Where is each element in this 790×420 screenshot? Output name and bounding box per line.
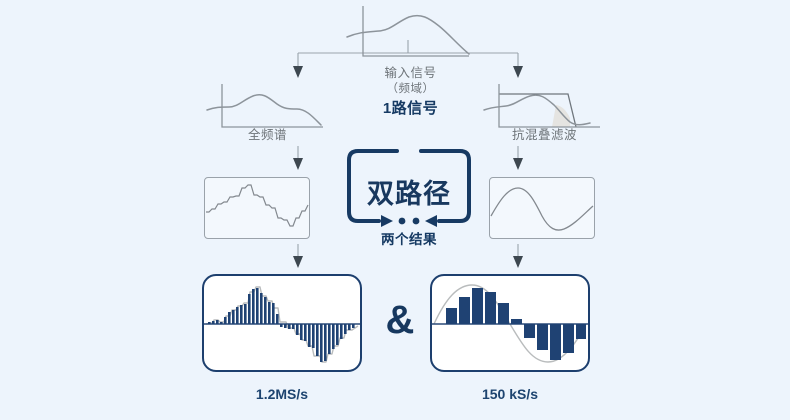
high-rate-sampled-panel (202, 274, 362, 372)
sine-waveform-box (489, 177, 595, 239)
arrow-down-left-top (293, 66, 303, 78)
full-spectrum-label: 全频谱 (205, 128, 330, 143)
dual-path-text: 双路径 (345, 172, 473, 211)
diagram-canvas: 输入信号 （频域） 1路信号 全频谱 抗混叠滤波 (0, 0, 790, 420)
input-signal-count-label: 1路信号 (343, 101, 478, 116)
arrow-down-right-mid (513, 158, 523, 170)
full-spectrum-chart (205, 82, 330, 134)
input-spectrum-chart (345, 4, 475, 62)
arrow-down-left-mid (293, 158, 303, 170)
arrow-down-right-bottom (513, 256, 523, 268)
result-dot-1 (399, 218, 406, 225)
input-signal-label-line1: 输入信号 (343, 66, 478, 81)
result-dot-2 (413, 218, 420, 225)
arrow-down-right-top (513, 66, 523, 78)
high-rate-label: 1.2MS/s (202, 386, 362, 402)
two-results-label: 两个结果 (345, 232, 473, 247)
anti-alias-filter-label: 抗混叠滤波 (482, 128, 607, 143)
ampersand-conjunction: & (372, 300, 428, 340)
input-signal-label-line2: （频域） (343, 82, 478, 97)
anti-alias-filter-chart (482, 82, 607, 134)
arrow-left-icon (425, 215, 437, 227)
low-rate-label: 150 kS/s (430, 386, 590, 402)
sample-bars (446, 288, 586, 360)
dual-path-badge: 双路径 (345, 148, 473, 228)
low-rate-sampled-panel (430, 274, 590, 372)
noisy-waveform-box (204, 177, 310, 239)
arrow-down-left-bottom (293, 256, 303, 268)
arrow-right-icon (381, 215, 393, 227)
